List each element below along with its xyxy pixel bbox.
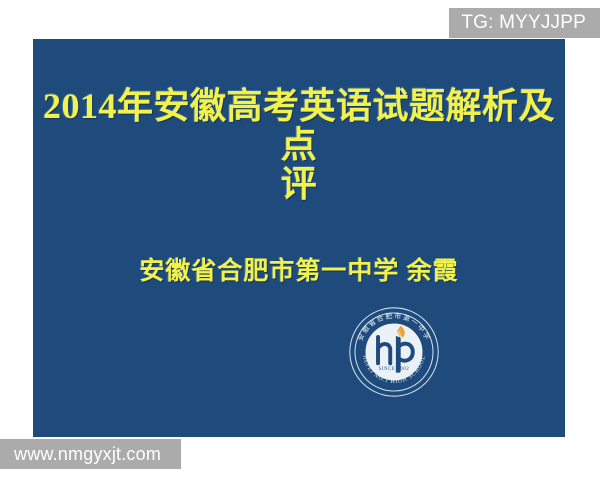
slide-title-line-2: 评 [33,165,565,204]
slide-title-year: 2014 [43,86,117,126]
slide-title: 2014年安徽高考英语试题解析及点 评 [33,87,565,204]
emblem-since-text: SINCE 1902 [379,367,410,372]
watermark-top-right: TG: MYYJJPP [449,8,600,38]
school-emblem-icon: 安徽省合肥市第一中学 HEFEI NO.1 HIGH SCHOOL SINCE … [347,305,441,399]
slide-subtitle: 安徽省合肥市第一中学 余霞 [33,251,565,287]
watermark-bottom-left: www.nmgyxjt.com [0,439,181,469]
slide-title-line-1-text: 年安徽高考英语试题解析及点 [117,86,555,165]
slide-title-line-1: 2014年安徽高考英语试题解析及点 [33,87,565,165]
presentation-slide: 2014年安徽高考英语试题解析及点 评 安徽省合肥市第一中学 余霞 安徽省合肥市… [33,39,565,437]
slide-subtitle-text: 安徽省合肥市第一中学 余霞 [139,258,458,285]
